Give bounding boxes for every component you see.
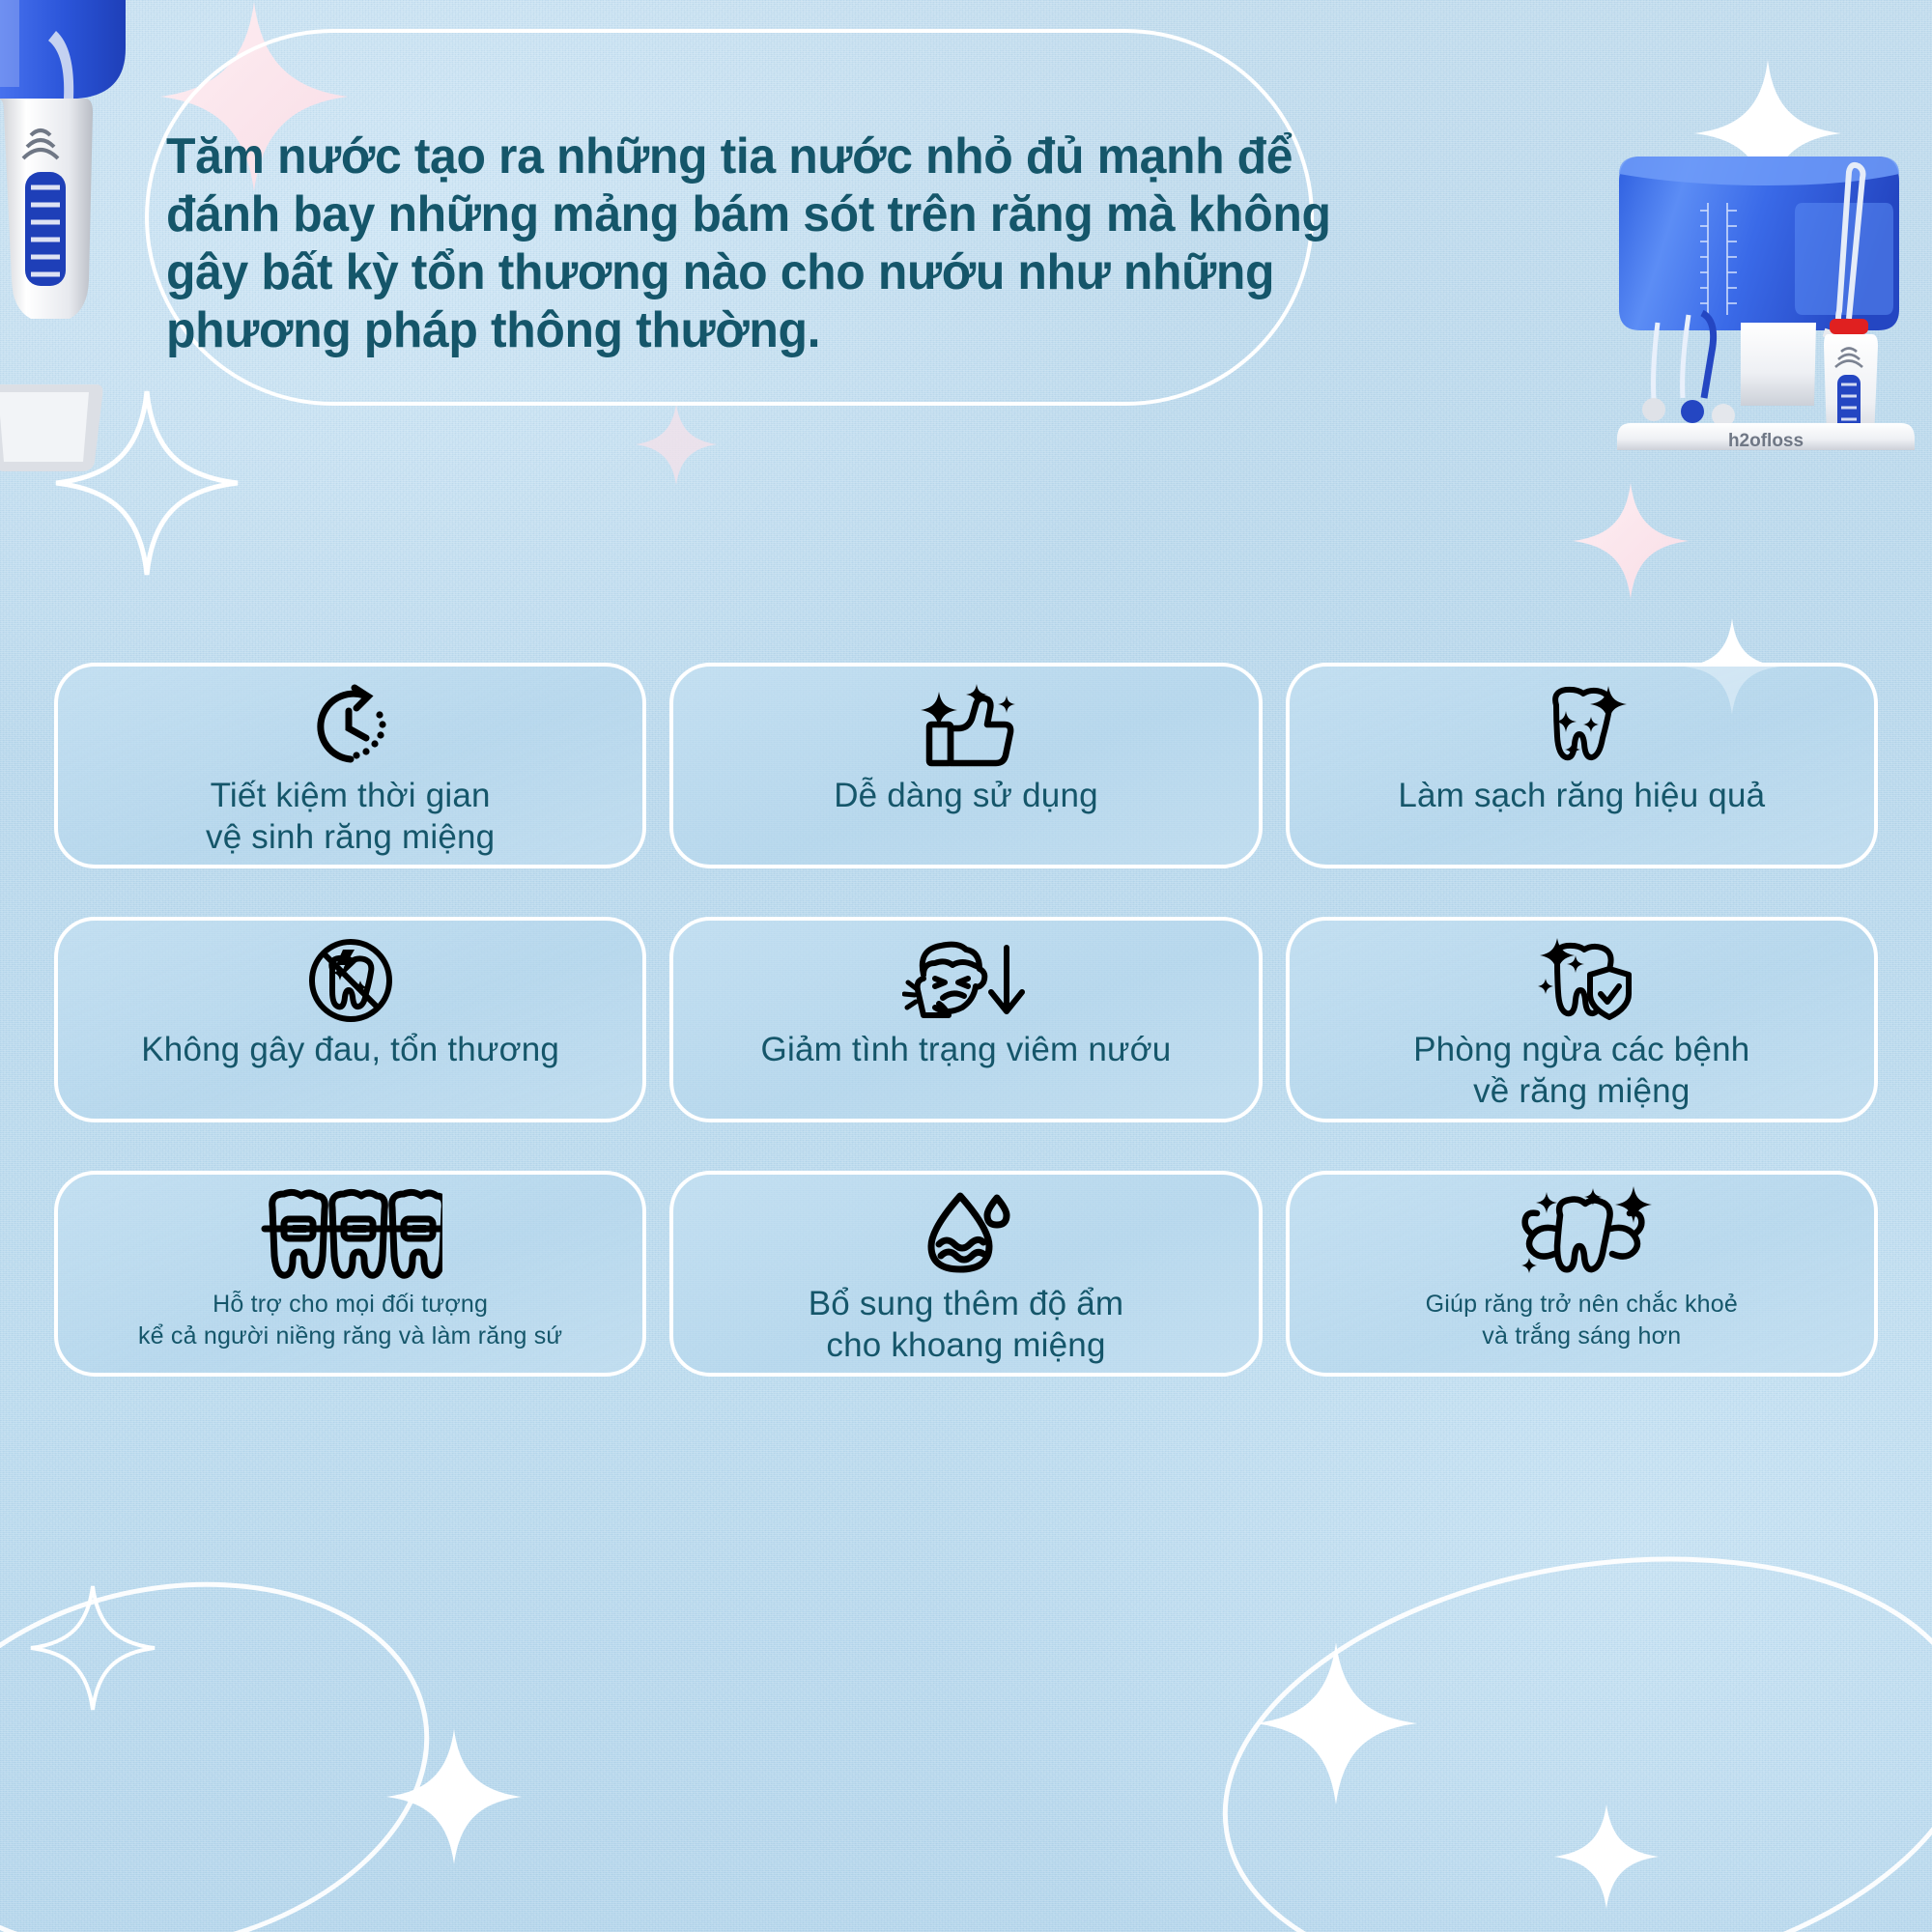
feature-card[interactable]: Tiết kiệm thời gian vệ sinh răng miệng xyxy=(54,663,646,868)
feature-card[interactable]: Dễ dàng sử dụng xyxy=(669,663,1262,868)
hero-line: gây bất kỳ tổn thương nào cho nướu như n… xyxy=(166,243,1233,301)
sparkling-tooth-icon xyxy=(1531,682,1632,771)
no-pain-tooth-icon xyxy=(300,936,401,1025)
hero-headline: Tăm nước tạo ra những tia nước nhỏ đủ mạ… xyxy=(166,128,1233,359)
feature-card[interactable]: Giảm tình trạng viêm nướu xyxy=(669,917,1262,1122)
feature-card[interactable]: Phòng ngừa các bệnh về răng miệng xyxy=(1286,917,1878,1122)
product-water-flosser-unit-image: h2ofloss xyxy=(1596,143,1932,452)
feature-label-line: kể cả người niềng răng và làm răng sứ xyxy=(138,1321,562,1352)
water-drop-icon xyxy=(916,1190,1016,1279)
feature-label-line: Không gây đau, tổn thương xyxy=(141,1029,559,1070)
feature-card[interactable]: Giúp răng trở nên chắc khoẻ và trắng sán… xyxy=(1286,1171,1878,1377)
feature-card[interactable]: Không gây đau, tổn thương xyxy=(54,917,646,1122)
feature-card-label: Giảm tình trạng viêm nướu xyxy=(748,1029,1185,1070)
feature-card[interactable]: Làm sạch răng hiệu quả xyxy=(1286,663,1878,868)
feature-label-line: Làm sạch răng hiệu quả xyxy=(1398,775,1765,816)
feature-label-line: Giảm tình trạng viêm nướu xyxy=(761,1029,1172,1070)
product-handheld-flosser-image xyxy=(0,0,184,493)
toothache-face-down-arrow-icon xyxy=(902,936,1030,1025)
feature-card[interactable]: Bổ sung thêm độ ẩm cho khoang miệng xyxy=(669,1171,1262,1377)
feature-card-label: Giúp răng trở nên chắc khoẻ và trắng sán… xyxy=(1412,1289,1751,1352)
feature-card-label: Không gây đau, tổn thương xyxy=(128,1029,573,1070)
feature-card-label: Phòng ngừa các bệnh về răng miệng xyxy=(1400,1029,1763,1112)
feature-card-label: Tiết kiệm thời gian vệ sinh răng miệng xyxy=(192,775,508,858)
braces-teeth-icon xyxy=(259,1184,442,1285)
clock-arrow-icon xyxy=(304,682,397,771)
hero-line: đánh bay những mảng bám sót trên răng mà… xyxy=(166,185,1233,243)
feature-label-line: Phòng ngừa các bệnh xyxy=(1413,1029,1749,1070)
hero-line: Tăm nước tạo ra những tia nước nhỏ đủ mạ… xyxy=(166,128,1233,185)
feature-card-label: Bổ sung thêm độ ẩm cho khoang miệng xyxy=(795,1283,1138,1366)
feature-card[interactable]: Hỗ trợ cho mọi đối tượng kể cả người niề… xyxy=(54,1171,646,1377)
feature-card-grid: Tiết kiệm thời gian vệ sinh răng miệng D… xyxy=(54,663,1878,1377)
product-logo-text: h2ofloss xyxy=(1728,431,1804,451)
feature-label-line: cho khoang miệng xyxy=(809,1324,1124,1366)
feature-label-line: Tiết kiệm thời gian xyxy=(206,775,495,816)
feature-label-line: Dễ dàng sử dụng xyxy=(834,775,1098,816)
feature-card-label: Làm sạch răng hiệu quả xyxy=(1384,775,1778,816)
feature-label-line: và trắng sáng hơn xyxy=(1426,1321,1738,1352)
tooth-shield-icon xyxy=(1528,936,1634,1025)
feature-label-line: Bổ sung thêm độ ẩm xyxy=(809,1283,1124,1324)
feature-card-label: Dễ dàng sử dụng xyxy=(820,775,1112,816)
hero-line: phương pháp thông thường. xyxy=(166,301,1233,359)
feature-label-line: Hỗ trợ cho mọi đối tượng xyxy=(138,1289,562,1321)
thumbs-up-sparkle-icon xyxy=(916,682,1016,771)
strong-tooth-muscle-icon xyxy=(1504,1184,1659,1285)
feature-label-line: vệ sinh răng miệng xyxy=(206,816,495,858)
feature-card-label: Hỗ trợ cho mọi đối tượng kể cả người niề… xyxy=(125,1289,576,1352)
feature-label-line: về răng miệng xyxy=(1413,1070,1749,1112)
feature-label-line: Giúp răng trở nên chắc khoẻ xyxy=(1426,1289,1738,1321)
